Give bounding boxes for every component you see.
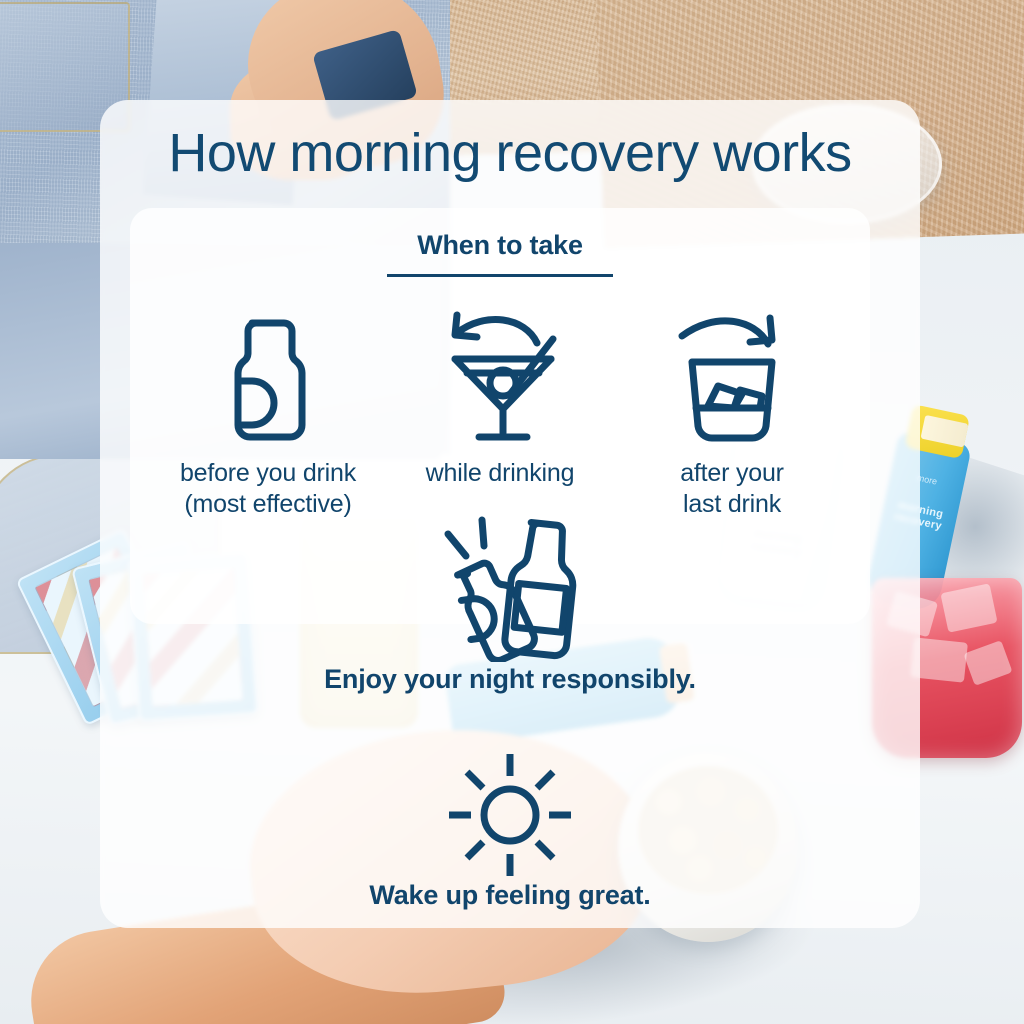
- sun-icon: [100, 752, 920, 878]
- enjoy-responsibly-block: Enjoy your night responsibly.: [100, 512, 920, 695]
- page-title: How morning recovery works: [100, 122, 920, 184]
- step-label: after your last drink: [680, 458, 784, 520]
- enjoy-responsibly-text: Enjoy your night responsibly.: [100, 664, 920, 695]
- when-to-take-heading: When to take: [130, 230, 870, 261]
- step-before-you-drink: before you drink (most effective): [152, 304, 384, 520]
- ice-cube: [963, 640, 1012, 686]
- step-label-line1: while drinking: [426, 459, 575, 487]
- step-after-last-drink: after your last drink: [616, 304, 848, 520]
- martini-glass-icon: [433, 304, 567, 454]
- tumbler-glass-icon: [670, 304, 794, 454]
- step-while-drinking: while drinking: [384, 304, 616, 489]
- info-card: How morning recovery works When to take: [100, 100, 920, 928]
- cheers-bottles-icon: [100, 512, 920, 662]
- heading-underline: [387, 274, 613, 277]
- step-label: before you drink (most effective): [180, 458, 356, 520]
- step-label-line1: after your: [680, 459, 784, 487]
- wake-up-great-text: Wake up feeling great.: [100, 880, 920, 911]
- ice-cube: [940, 583, 997, 633]
- screenshot-root: morning recovery more morning recovery: [0, 0, 1024, 1024]
- step-label-line1: before you drink: [180, 459, 356, 487]
- cap-label: [920, 415, 968, 448]
- step-label: while drinking: [426, 458, 575, 489]
- bottle-icon: [220, 304, 316, 454]
- wake-up-great-block: Wake up feeling great.: [100, 752, 920, 911]
